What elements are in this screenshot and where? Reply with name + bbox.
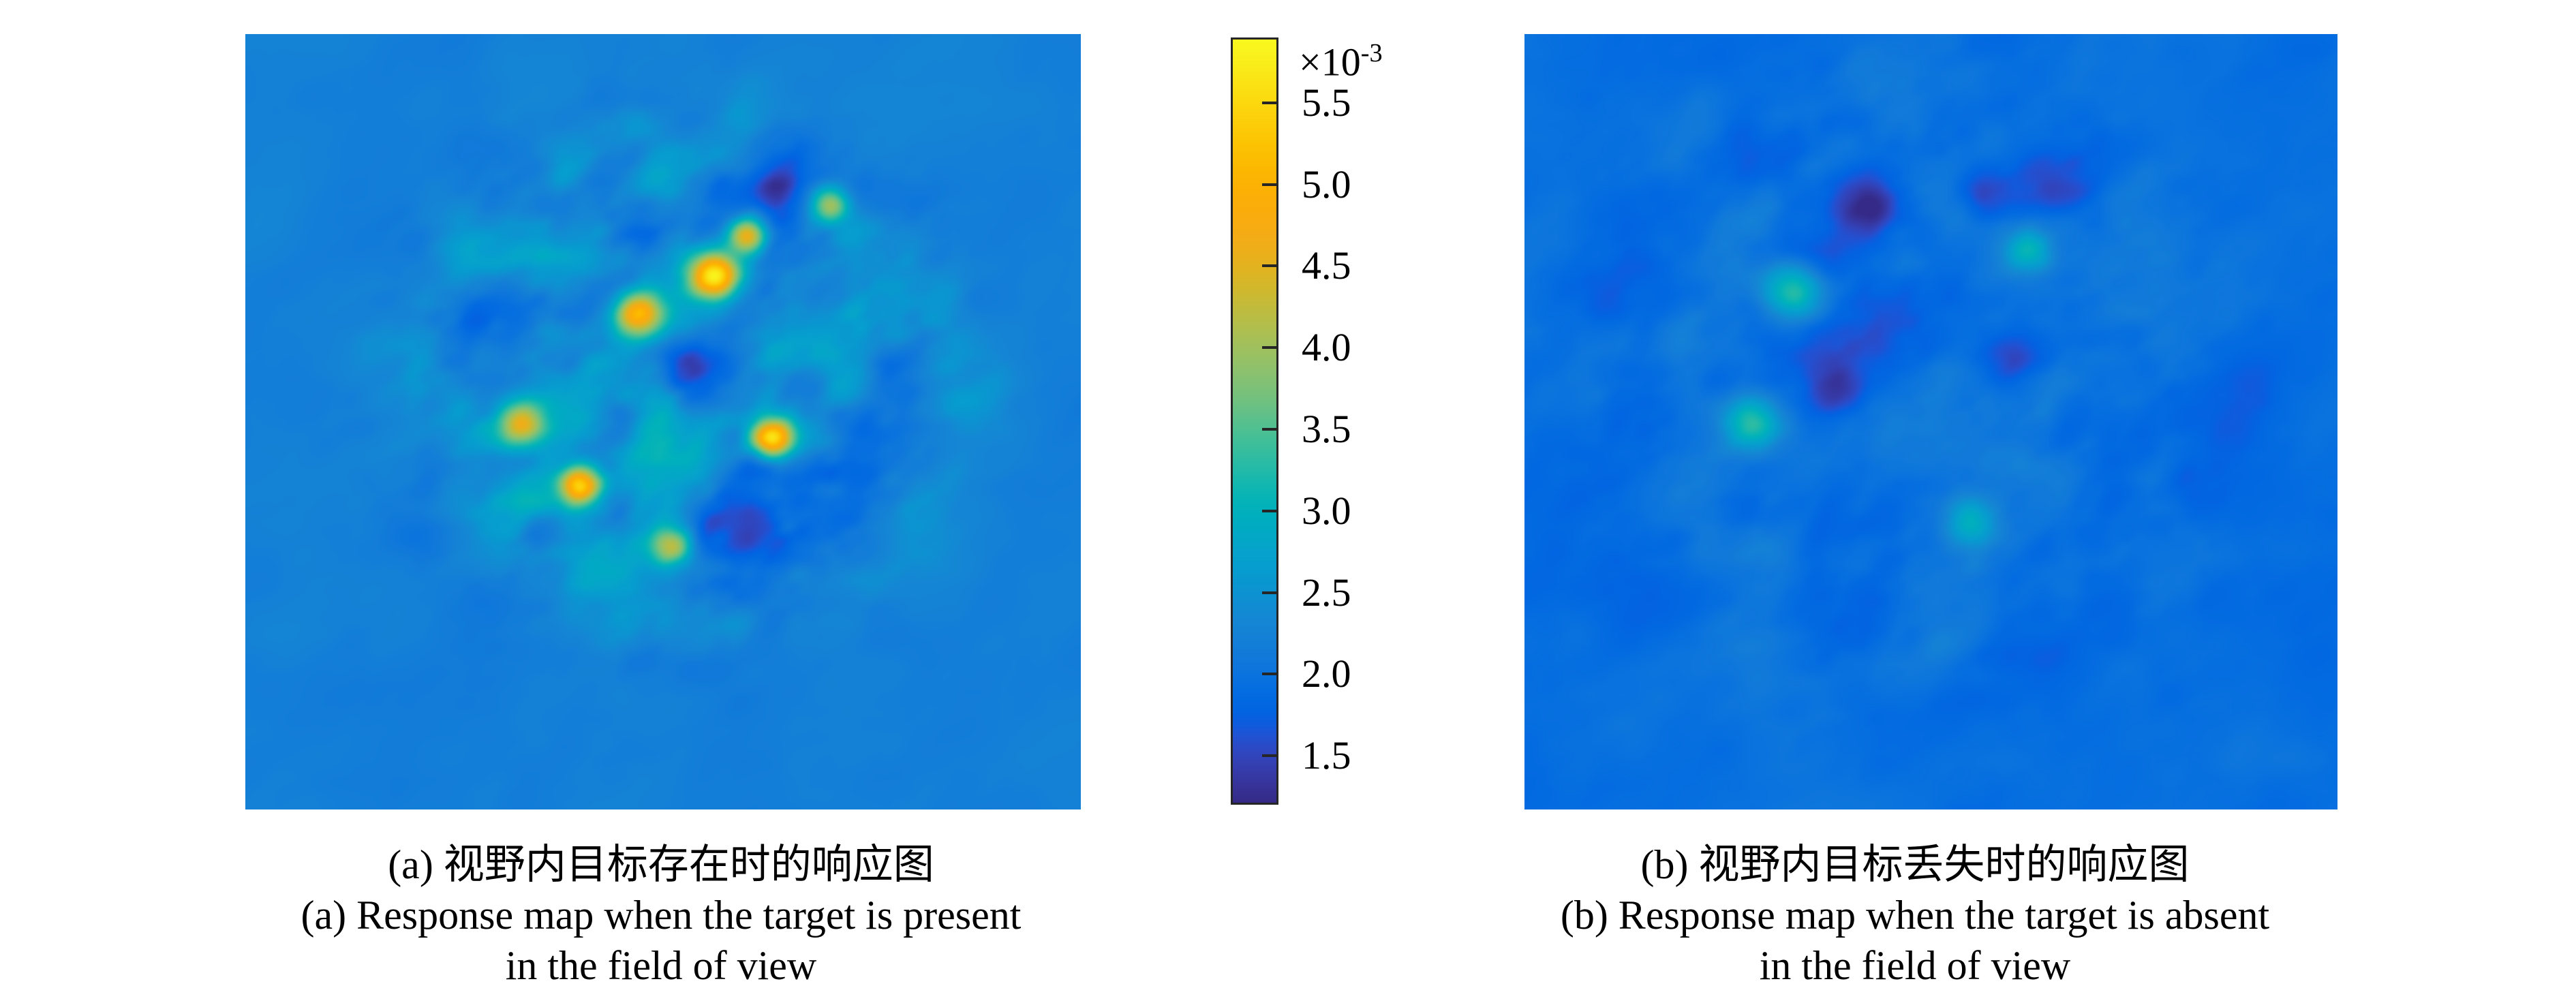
colorbar-exponent-mantissa: ×10 bbox=[1299, 40, 1361, 84]
caption-b-chinese: (b) 视野内目标丢失时的响应图 bbox=[1417, 839, 2412, 890]
colorbar-tick-mark bbox=[1262, 428, 1278, 431]
caption-b-english-line1: (b) Response map when the target is abse… bbox=[1417, 890, 2412, 940]
colorbar-tick-label: 2.0 bbox=[1302, 654, 1351, 694]
colorbar-tick-mark bbox=[1262, 591, 1278, 594]
colorbar-tick-mark bbox=[1262, 183, 1278, 186]
colorbar-tick-label: 3.5 bbox=[1302, 410, 1351, 449]
figure-root: ×10-3 5.55.04.54.03.53.02.52.01.5 (a) 视野… bbox=[0, 0, 2576, 1003]
colorbar-tick-mark bbox=[1262, 510, 1278, 512]
caption-a-chinese: (a) 视野内目标存在时的响应图 bbox=[170, 839, 1152, 890]
colorbar-tick-mark bbox=[1262, 346, 1278, 349]
colorbar-tick-mark bbox=[1262, 673, 1278, 675]
response-map-panel-b bbox=[1524, 34, 2337, 809]
caption-panel-b: (b) 视野内目标丢失时的响应图 (b) Response map when t… bbox=[1417, 839, 2412, 991]
colorbar-gradient[interactable] bbox=[1231, 37, 1278, 805]
colorbar-canvas bbox=[1233, 40, 1276, 803]
colorbar-tick-mark bbox=[1262, 264, 1278, 267]
colorbar-tick-label: 5.5 bbox=[1302, 83, 1351, 123]
caption-panel-a: (a) 视野内目标存在时的响应图 (a) Response map when t… bbox=[170, 839, 1152, 991]
colorbar-tick-label: 4.0 bbox=[1302, 328, 1351, 367]
colorbar-exponent-power: -3 bbox=[1361, 39, 1383, 67]
colorbar-tick-label: 4.5 bbox=[1302, 246, 1351, 286]
colorbar-tick-mark bbox=[1262, 754, 1278, 757]
heatmap-canvas-b bbox=[1524, 34, 2337, 809]
colorbar-group: ×10-3 5.55.04.54.03.53.02.52.01.5 bbox=[1231, 37, 1435, 807]
colorbar-tick-mark bbox=[1262, 102, 1278, 104]
caption-a-english-line1: (a) Response map when the target is pres… bbox=[170, 890, 1152, 940]
colorbar-exponent-label: ×10-3 bbox=[1299, 33, 1383, 82]
colorbar-tick-label: 1.5 bbox=[1302, 736, 1351, 775]
caption-b-english-line2: in the field of view bbox=[1417, 940, 2412, 991]
heatmap-canvas-a bbox=[245, 34, 1081, 809]
response-map-panel-a bbox=[245, 34, 1081, 809]
caption-a-english-line2: in the field of view bbox=[170, 940, 1152, 991]
colorbar-tick-label: 5.0 bbox=[1302, 165, 1351, 204]
colorbar-tick-label: 3.0 bbox=[1302, 491, 1351, 531]
colorbar-tick-label: 2.5 bbox=[1302, 573, 1351, 613]
